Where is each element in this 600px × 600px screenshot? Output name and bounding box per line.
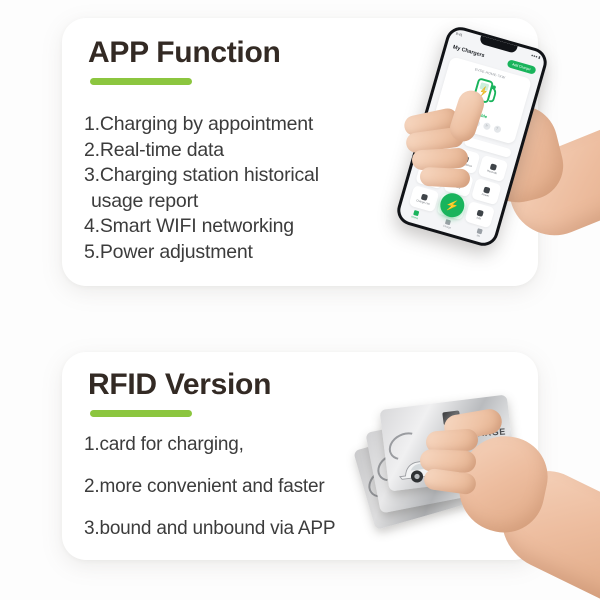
add-charger-button[interactable]: Add Charger bbox=[506, 59, 536, 75]
finger-ring bbox=[423, 467, 477, 495]
person-icon bbox=[477, 228, 483, 234]
list-item: 4.Smart WIFI networking bbox=[84, 214, 319, 240]
stat-chip: A bbox=[450, 113, 459, 122]
thumb bbox=[447, 87, 488, 144]
title-underline-accent bbox=[90, 410, 192, 417]
status-time: 9:41 bbox=[455, 32, 463, 38]
charging-cable-graphic bbox=[372, 447, 415, 487]
list-item: 1.card for charging, bbox=[84, 424, 335, 466]
secondary-action-placeholder[interactable] bbox=[464, 136, 512, 158]
charger-stat-row: A V kW h T bbox=[435, 108, 518, 138]
tab-label: Me bbox=[476, 234, 480, 238]
bolt-icon bbox=[445, 219, 451, 225]
app-screen-title: My Chargers bbox=[452, 44, 485, 59]
list-item-continuation: usage report bbox=[84, 189, 319, 215]
tile-label: Charge List bbox=[416, 199, 430, 206]
list-item: 2.Real-time data bbox=[84, 138, 319, 164]
stat-chip: kW bbox=[472, 119, 481, 128]
wifi-icon bbox=[427, 170, 434, 177]
tile-records[interactable]: Records bbox=[478, 155, 509, 182]
clock-icon bbox=[434, 147, 441, 154]
tile-wifi[interactable]: WIFI bbox=[415, 162, 446, 189]
status-indicators: ●●● ▮ bbox=[531, 53, 541, 59]
tile-label: Schedule bbox=[430, 153, 442, 159]
forearm-shape bbox=[485, 456, 600, 600]
list-item: 1.Charging by appointment bbox=[84, 112, 319, 138]
records-icon bbox=[490, 163, 497, 170]
list-icon bbox=[421, 193, 428, 200]
rfid-version-title: RFID Version bbox=[88, 368, 271, 402]
stat-chip: T bbox=[493, 125, 502, 134]
phone-screen: 9:41 ●●● ▮ My Chargers Add Charger EVSE-… bbox=[397, 27, 546, 245]
card-icon bbox=[455, 178, 462, 185]
gear-icon bbox=[449, 201, 456, 208]
tab-label: Home bbox=[411, 215, 418, 220]
rfid-chip-icon bbox=[442, 410, 460, 425]
hand-holding-phone-illustration: 9:41 ●●● ▮ My Chargers Add Charger EVSE-… bbox=[358, 20, 600, 278]
rfid-card-brand-label: EV CHARGE bbox=[447, 426, 506, 440]
charger-status-card[interactable]: EVSE-HOME-7KW Available A V kW bbox=[433, 56, 532, 145]
app-function-feature-list: 1.Charging by appointment 2.Real-time da… bbox=[84, 112, 319, 265]
finger-pinky bbox=[420, 167, 471, 189]
list-item: 2.more convenient and faster bbox=[84, 466, 335, 508]
tile-charge-list[interactable]: Charge List bbox=[409, 185, 440, 212]
phone-notch bbox=[479, 36, 518, 54]
hand-holding-rfid-cards-illustration: EV CHARGE bbox=[348, 368, 600, 600]
rfid-card-front: EV CHARGE bbox=[379, 395, 516, 492]
rfid-feature-list: 1.card for charging, 2.more convenient a… bbox=[84, 424, 335, 550]
tile-label: Card bbox=[454, 185, 460, 189]
app-function-title: APP Function bbox=[88, 36, 281, 70]
balance-icon bbox=[462, 155, 469, 162]
phone-tab-bar: Home Charge Me bbox=[398, 206, 495, 244]
power-icon bbox=[483, 186, 490, 193]
rfid-card-back bbox=[353, 416, 499, 530]
rfid-version-card: RFID Version 1.card for charging, 2.more… bbox=[62, 352, 538, 560]
quick-charge-fab[interactable]: ⚡ bbox=[437, 190, 467, 220]
tile-label: Load Balance bbox=[456, 160, 473, 167]
start-charge-button[interactable]: Start Charge bbox=[429, 125, 463, 144]
stat-chip: h bbox=[482, 122, 491, 131]
tile-info[interactable]: Info bbox=[464, 201, 495, 228]
promo-graphic: APP Function 1.Charging by appointment 2… bbox=[0, 0, 600, 600]
tile-card[interactable]: Card bbox=[443, 170, 474, 197]
stat-chip: V bbox=[461, 116, 470, 125]
charging-cable-graphic bbox=[384, 427, 426, 466]
info-icon bbox=[477, 209, 484, 216]
charge-action-row: Start Charge bbox=[429, 125, 513, 158]
electric-car-graphic bbox=[391, 443, 481, 487]
finger-middle bbox=[405, 126, 465, 154]
ev-charger-icon bbox=[466, 73, 503, 110]
thumb bbox=[442, 407, 503, 442]
feature-tile-grid: Schedule Load Balance Records WIFI bbox=[409, 139, 509, 228]
rfid-card-middle bbox=[365, 409, 506, 514]
app-top-bar: My Chargers Add Charger bbox=[445, 39, 543, 79]
list-item: 5.Power adjustment bbox=[84, 240, 319, 266]
tile-label: Records bbox=[487, 169, 497, 175]
charger-availability-status: Available bbox=[437, 100, 519, 128]
tab-charge[interactable]: Charge bbox=[442, 219, 453, 230]
tile-label: WIFI bbox=[427, 177, 433, 181]
finger-ring bbox=[412, 148, 469, 171]
finger-middle bbox=[420, 449, 477, 473]
palm-shape bbox=[466, 97, 571, 210]
home-icon bbox=[413, 210, 419, 216]
list-item: 3.Charging station historical bbox=[84, 163, 319, 189]
tile-settings[interactable]: Settings bbox=[436, 193, 467, 220]
title-underline-accent bbox=[90, 78, 192, 85]
tile-load-balance[interactable]: Load Balance bbox=[450, 147, 481, 174]
tile-schedule[interactable]: Schedule bbox=[422, 139, 453, 166]
tab-label: Charge bbox=[442, 225, 451, 230]
forearm-shape bbox=[498, 111, 600, 249]
finger-index bbox=[425, 428, 478, 454]
charger-name-label: EVSE-HOME-7KW bbox=[449, 60, 531, 87]
smartphone-mockup: 9:41 ●●● ▮ My Chargers Add Charger EVSE-… bbox=[394, 24, 550, 250]
tile-power[interactable]: Power bbox=[471, 178, 502, 205]
tab-home[interactable]: Home bbox=[411, 210, 420, 221]
list-item: 3.bound and unbound via APP bbox=[84, 508, 335, 550]
tile-label: Info bbox=[476, 216, 481, 220]
tab-me[interactable]: Me bbox=[476, 228, 483, 238]
finger-index bbox=[403, 107, 460, 138]
app-function-card: APP Function 1.Charging by appointment 2… bbox=[62, 18, 538, 286]
tile-label: Power bbox=[481, 192, 489, 197]
tile-label: Settings bbox=[446, 207, 456, 213]
charging-cable-graphic bbox=[363, 462, 406, 503]
palm-shape bbox=[451, 428, 555, 540]
phone-status-bar: 9:41 ●●● ▮ bbox=[450, 28, 546, 63]
